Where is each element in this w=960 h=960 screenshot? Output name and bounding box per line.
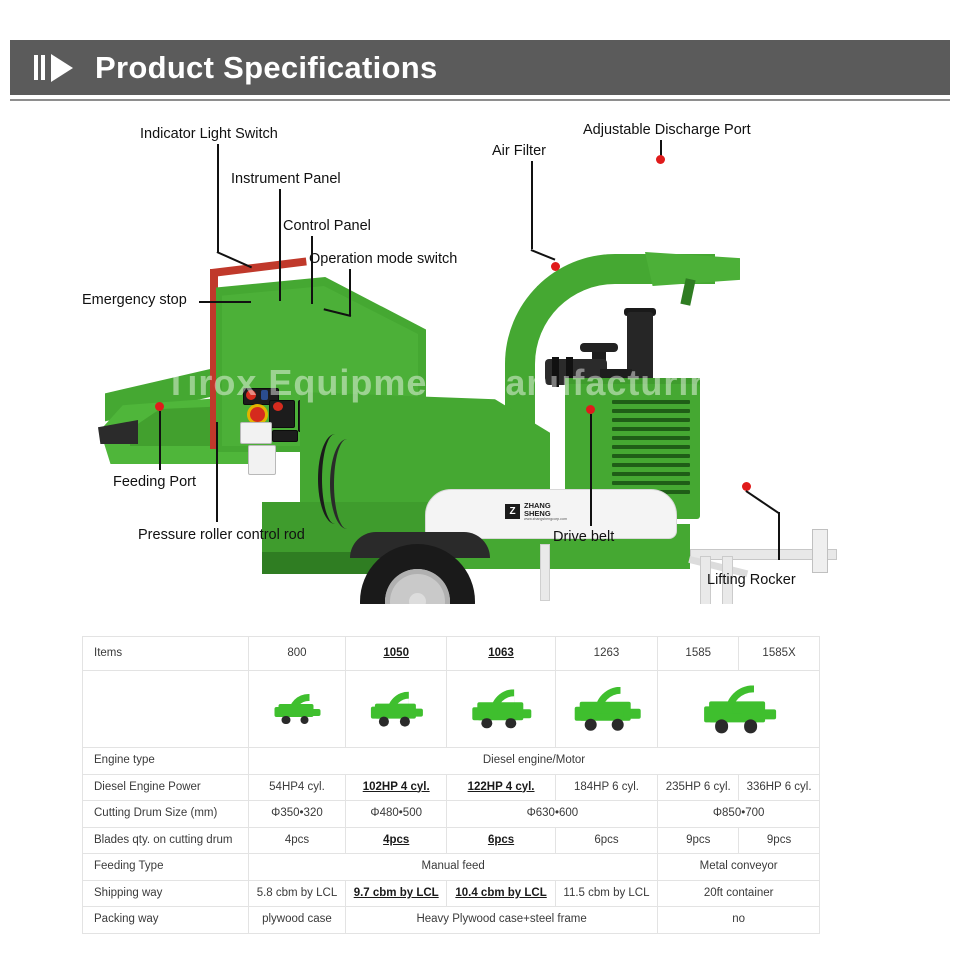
product-thumbnail-cell[interactable] (447, 671, 555, 748)
hydraulic-hose-2 (330, 439, 364, 529)
marker-air-filter (551, 262, 560, 271)
callout-emergency-stop: Emergency stop (82, 292, 187, 308)
air-filter-hat (580, 343, 618, 352)
table-cell: Φ480•500 (345, 801, 447, 828)
play-pause-icon (34, 54, 73, 82)
product-diagram: Z ZHANG SHENG www.zhangshengcorp.com Tir… (0, 104, 960, 604)
product-thumbnail-icon (664, 678, 813, 740)
indicator-light-led (261, 390, 268, 400)
table-cell: 336HP 6 cyl. (739, 774, 820, 801)
table-cell: Φ350•320 (249, 801, 346, 828)
table-cell: 4pcs (249, 827, 346, 854)
row-label: Engine type (83, 748, 249, 775)
table-cell: 9.7 cbm by LCL (345, 880, 447, 907)
table-row: Cutting Drum Size (mm)Φ350•320Φ480•500Φ6… (83, 801, 820, 828)
row-label: Cutting Drum Size (mm) (83, 801, 249, 828)
table-cell: 11.5 cbm by LCL (555, 880, 658, 907)
column-header-1585: 1585 (658, 637, 739, 671)
leader-feeding-port (159, 411, 161, 470)
table-cell: 20ft container (658, 880, 820, 907)
callout-control-panel: Control Panel (283, 218, 371, 234)
table-cell: 6pcs (555, 827, 658, 854)
logo-line-2: SHENG (524, 510, 567, 518)
callout-instrument-panel: Instrument Panel (231, 171, 341, 187)
air-filter-ring-1 (552, 357, 559, 387)
callout-lifting-rocker: Lifting Rocker (707, 572, 796, 588)
pressure-roller-rod-arm (212, 257, 307, 277)
leader-operation-mode-switch (349, 269, 351, 315)
product-thumbnail-cell[interactable] (658, 671, 820, 748)
label-sticker-2 (248, 445, 276, 475)
row-label: Packing way (83, 907, 249, 934)
leader-air-filter-b (531, 249, 556, 260)
callout-feeding-port: Feeding Port (113, 474, 196, 490)
table-cell: 54HP4 cyl. (249, 774, 346, 801)
label-sticker-1 (240, 422, 272, 444)
table-cell: plywood case (249, 907, 346, 934)
leader-lifting-rocker (746, 490, 780, 514)
support-leg (540, 544, 550, 601)
trailer-hitch (812, 529, 828, 573)
feed-hopper-lip (98, 420, 138, 444)
marker-adjustable-discharge-port (656, 155, 665, 164)
instrument-panel-knob[interactable] (273, 402, 283, 411)
table-cell: 4pcs (345, 827, 447, 854)
callout-drive-belt: Drive belt (553, 529, 614, 545)
table-row: Diesel Engine Power54HP4 cyl.102HP 4 cyl… (83, 774, 820, 801)
table-cell: 9pcs (739, 827, 820, 854)
table-cell: no (658, 907, 820, 934)
table-cell: 235HP 6 cyl. (658, 774, 739, 801)
marker-feeding-port (155, 402, 164, 411)
leader-instrument-panel (279, 189, 281, 301)
indicator-light-knob[interactable] (246, 390, 256, 400)
callout-adjustable-discharge-port: Adjustable Discharge Port (583, 122, 751, 138)
row-label: Feeding Type (83, 854, 249, 881)
table-cell: Diesel engine/Motor (249, 748, 820, 775)
column-header-1585X: 1585X (739, 637, 820, 671)
table-cell: 6pcs (447, 827, 555, 854)
column-header-800: 800 (249, 637, 346, 671)
column-header-1063: 1063 (447, 637, 555, 671)
callout-operation-mode-switch: Operation mode switch (309, 251, 457, 267)
table-cell: 5.8 cbm by LCL (249, 880, 346, 907)
table-cell: 9pcs (658, 827, 739, 854)
leader-lifting-rocker-b (778, 512, 780, 560)
label-sticker-3 (272, 430, 298, 442)
specification-table-wrapper: Items80010501063126315851585XEngine type… (82, 636, 820, 934)
leader-emergency-stop (199, 301, 251, 303)
table-cell: 184HP 6 cyl. (555, 774, 658, 801)
table-row: Shipping way5.8 cbm by LCL9.7 cbm by LCL… (83, 880, 820, 907)
table-cell: Φ850•700 (658, 801, 820, 828)
brand-logo: Z ZHANG SHENG www.zhangshengcorp.com (505, 502, 567, 521)
logo-mark-icon: Z (505, 504, 520, 519)
row-label: Blades qty. on cutting drum (83, 827, 249, 854)
callout-air-filter: Air Filter (492, 143, 546, 159)
table-cell: 102HP 4 cyl. (345, 774, 447, 801)
leader-indicator-light-switch (217, 144, 219, 252)
product-thumbnail-icon (562, 678, 652, 740)
callout-pressure-roller-control-rod: Pressure roller control rod (138, 527, 305, 543)
product-thumbnail-cell[interactable] (555, 671, 658, 748)
page-title: Product Specifications (95, 50, 438, 86)
table-row: Engine typeDiesel engine/Motor (83, 748, 820, 775)
product-image-row (83, 671, 820, 748)
page-header: Product Specifications (10, 40, 950, 95)
row-label: Diesel Engine Power (83, 774, 249, 801)
leader-drive-belt (590, 414, 592, 526)
column-header-items: Items (83, 637, 249, 671)
table-cell: Heavy Plywood case+steel frame (345, 907, 657, 934)
product-thumbnail-icon (352, 678, 441, 740)
leader-control-panel (311, 236, 313, 304)
column-header-1050: 1050 (345, 637, 447, 671)
table-row: Blades qty. on cutting drum4pcs4pcs6pcs6… (83, 827, 820, 854)
column-header-1263: 1263 (555, 637, 658, 671)
marker-drive-belt (586, 405, 595, 414)
leader-air-filter (531, 161, 533, 249)
table-row: Feeding TypeManual feedMetal conveyor (83, 854, 820, 881)
engine-louvers (612, 400, 690, 499)
logo-url: www.zhangshengcorp.com (524, 517, 567, 521)
table-cell: Metal conveyor (658, 854, 820, 881)
image-row-label (83, 671, 249, 748)
table-cell: 10.4 cbm by LCL (447, 880, 555, 907)
table-row: Packing wayplywood caseHeavy Plywood cas… (83, 907, 820, 934)
table-cell: 122HP 4 cyl. (447, 774, 555, 801)
product-thumbnail-cell[interactable] (249, 671, 346, 748)
callout-indicator-light-switch: Indicator Light Switch (140, 126, 278, 142)
table-cell: Manual feed (249, 854, 658, 881)
specification-table: Items80010501063126315851585XEngine type… (82, 636, 820, 934)
product-thumbnail-icon (453, 678, 548, 740)
table-cell: Φ630•600 (447, 801, 658, 828)
table-header-row: Items80010501063126315851585X (83, 637, 820, 671)
product-thumbnail-cell[interactable] (345, 671, 447, 748)
wheel-hub (409, 593, 426, 604)
leader-pressure-roller-control-rod (216, 422, 218, 522)
product-thumbnail-icon (255, 678, 339, 740)
leader-adjustable-discharge-port (660, 140, 662, 156)
row-label: Shipping way (83, 880, 249, 907)
